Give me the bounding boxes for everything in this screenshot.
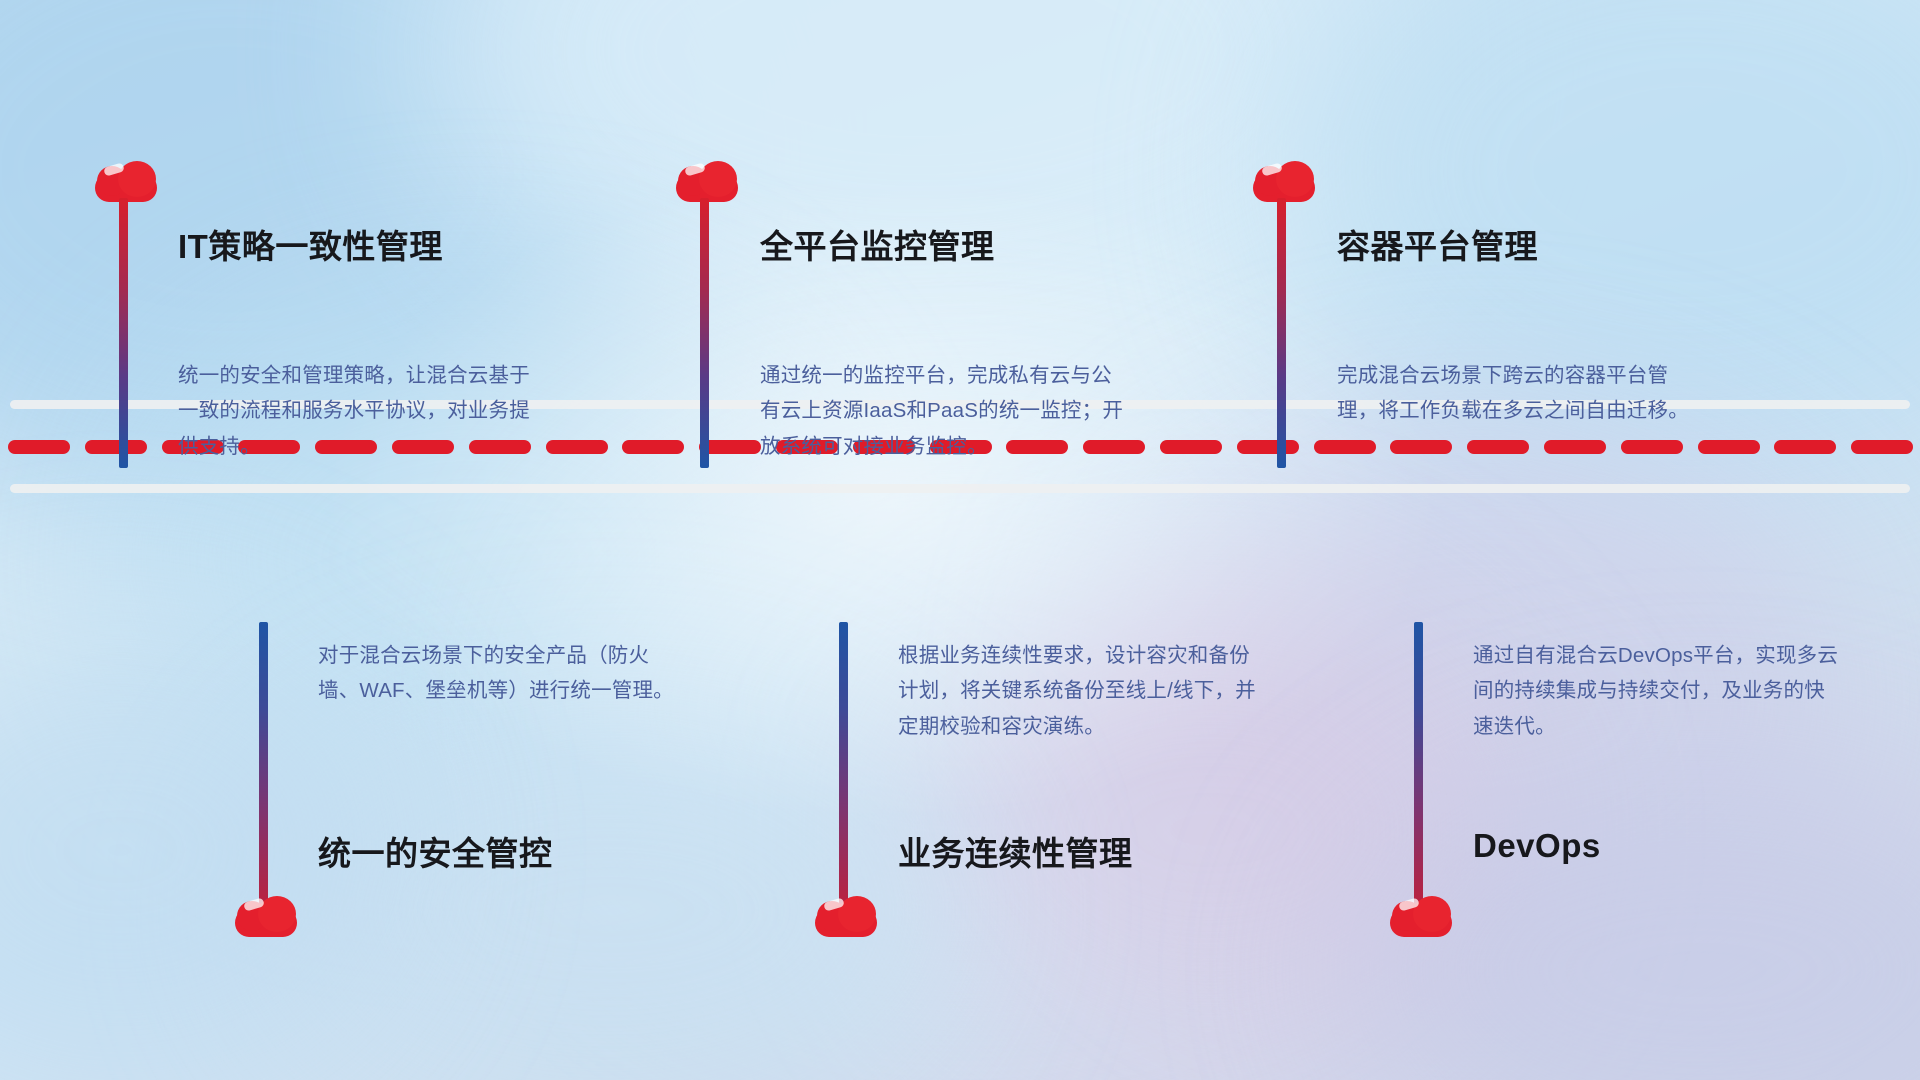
- pin-stem: [839, 622, 848, 917]
- cloud-icon: [1390, 895, 1452, 937]
- road-dash-segment: [1237, 440, 1299, 454]
- top-item-desc-2: 通过统一的监控平台，完成私有云与公有云上资源IaaS和PaaS的统一监控；开放系…: [760, 358, 1132, 464]
- bottom-item-desc-1: 对于混合云场景下的安全产品（防火墙、WAF、堡垒机等）进行统一管理。: [318, 638, 690, 709]
- pin-stem: [700, 198, 709, 468]
- bottom-item-title-3: DevOps: [1473, 827, 1601, 865]
- top-item-title-3: 容器平台管理: [1337, 220, 1538, 268]
- road-dash-segment: [1314, 440, 1376, 454]
- top-item-desc-1: 统一的安全和管理策略，让混合云基于一致的流程和服务水平协议，对业务提供支持。: [178, 358, 550, 464]
- road-dash-segment: [1621, 440, 1683, 454]
- pin-stem: [119, 198, 128, 468]
- road-dash-segment: [1160, 440, 1222, 454]
- road-dash-segment: [1467, 440, 1529, 454]
- bottom-item-desc-2: 根据业务连续性要求，设计容灾和备份计划，将关键系统备份至线上/线下，并定期校验和…: [898, 638, 1270, 744]
- road-dash-segment: [1698, 440, 1760, 454]
- pin-stem: [1277, 198, 1286, 468]
- pin-stem: [1414, 622, 1423, 917]
- road-dash-segment: [8, 440, 70, 454]
- bottom-item-desc-3: 通过自有混合云DevOps平台，实现多云间的持续集成与持续交付，及业务的快速迭代…: [1473, 638, 1845, 744]
- bottom-item-title-1: 统一的安全管控: [318, 827, 553, 875]
- infographic-canvas: IT策略一致性管理 统一的安全和管理策略，让混合云基于一致的流程和服务水平协议，…: [0, 0, 1920, 1080]
- road-dash-segment: [1544, 440, 1606, 454]
- top-item-desc-3: 完成混合云场景下跨云的容器平台管理，将工作负载在多云之间自由迁移。: [1337, 358, 1709, 429]
- bottom-item-title-2: 业务连续性管理: [898, 827, 1133, 875]
- cloud-icon: [815, 895, 877, 937]
- cloud-icon: [95, 160, 157, 202]
- cloud-icon: [235, 895, 297, 937]
- road-dash-segment: [1851, 440, 1913, 454]
- road-dash-segment: [1390, 440, 1452, 454]
- pin-stem: [259, 622, 268, 917]
- road-dash-segment: [546, 440, 608, 454]
- top-item-title-1: IT策略一致性管理: [178, 220, 443, 268]
- road-dash-segment: [1774, 440, 1836, 454]
- road-edge-line-bottom: [10, 484, 1910, 493]
- cloud-icon: [676, 160, 738, 202]
- road-dash-segment: [85, 440, 147, 454]
- cloud-icon: [1253, 160, 1315, 202]
- top-item-title-2: 全平台监控管理: [760, 220, 995, 268]
- road-dash-segment: [622, 440, 684, 454]
